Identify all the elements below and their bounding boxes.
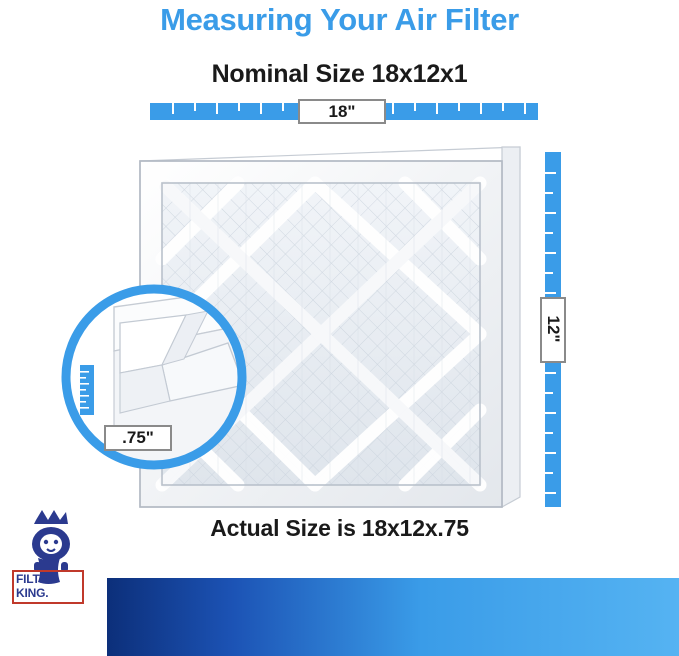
brand-logo: FILTER KING. [12, 508, 98, 608]
bottom-banner [107, 578, 679, 656]
width-measurement-label: 18" [298, 99, 386, 124]
logo-line-2: KING. [16, 586, 82, 600]
page-title: Measuring Your Air Filter [0, 2, 679, 38]
logo-text: FILTER KING. [16, 572, 82, 600]
nominal-size-heading: Nominal Size 18x12x1 [0, 60, 679, 89]
height-measurement-text: 12" [543, 298, 563, 360]
diagram-canvas: Measuring Your Air Filter Nominal Size 1… [0, 0, 679, 656]
depth-measurement-label: .75" [104, 425, 172, 451]
actual-size-caption: Actual Size is 18x12x.75 [0, 515, 679, 542]
height-measurement-label: 12" [540, 297, 566, 363]
logo-line-1: FILTER [16, 572, 82, 586]
